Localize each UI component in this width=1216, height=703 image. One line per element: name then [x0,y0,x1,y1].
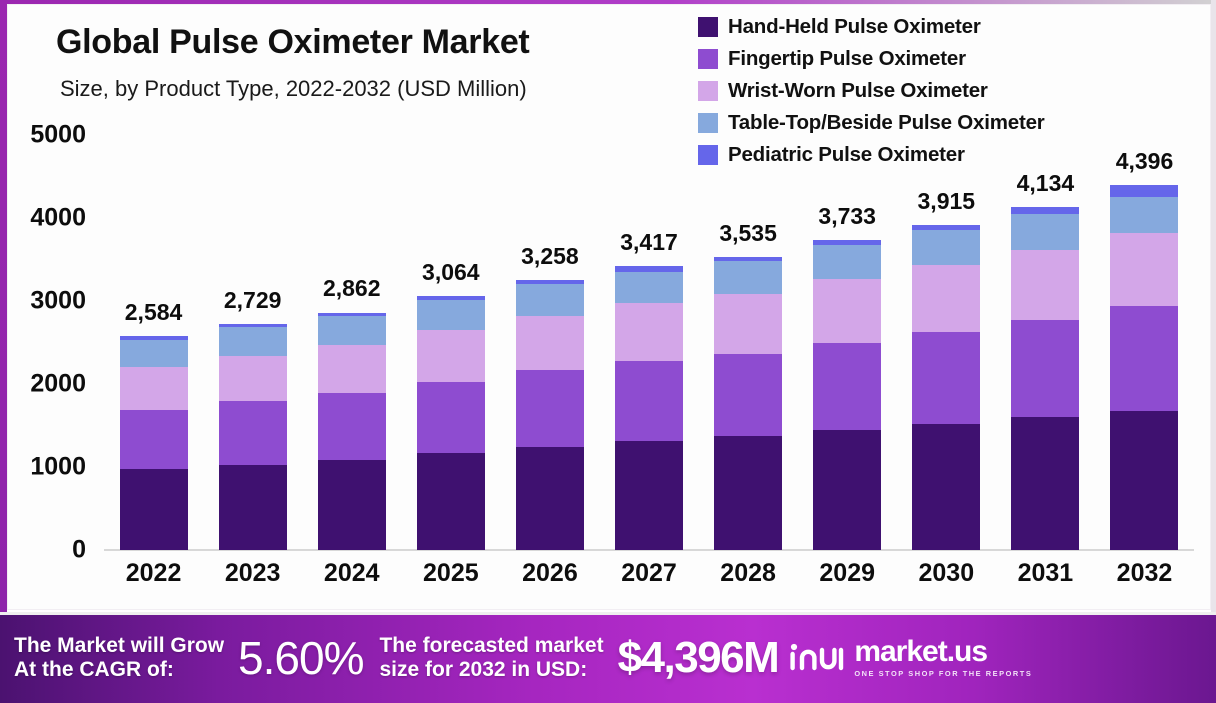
x-axis-tick-label: 2032 [1117,559,1173,588]
cagr-label-line2: At the CAGR of: [14,658,224,682]
bar-segment [318,345,386,393]
bar-segment [1110,306,1178,410]
bar-total-label: 3,535 [719,220,777,247]
bar-stack [615,266,683,550]
bar-segment [615,441,683,550]
bar-total-label: 3,417 [620,229,678,256]
bar-total-label: 2,862 [323,275,381,302]
y-axis-tick-label: 0 [0,536,86,565]
x-axis-tick-label: 2024 [324,559,380,588]
bar-segment [417,382,485,453]
bar-segment [912,265,980,332]
legend-swatch-icon [698,17,718,37]
bar-column-2024[interactable]: 2,8622024 [302,135,401,550]
legend-swatch-icon [698,49,718,69]
bar-segment [318,316,386,345]
cagr-label: The Market will Grow At the CAGR of: [14,634,224,681]
bar-stack [1011,207,1079,550]
y-axis-tick-label: 5000 [0,121,86,150]
bar-segment [219,465,287,550]
bar-segment [1110,411,1178,550]
bar-segment [813,279,881,342]
logo-text: market.us ONE STOP SHOP FOR THE REPORTS [854,637,1032,677]
bar-segment [1011,207,1079,214]
bottom-banner: The Market will Grow At the CAGR of: 5.6… [0,612,1216,703]
bar-stack [912,225,980,550]
bar-stack [516,280,584,550]
legend-item-label: Hand-Held Pulse Oximeter [728,15,981,39]
bar-stack [219,324,287,551]
bar-segment [516,370,584,447]
bar-column-2026[interactable]: 3,2582026 [500,135,599,550]
bar-segment [813,245,881,279]
bar-segment [1011,214,1079,250]
bar-segment [714,294,782,355]
cagr-value: 5.60% [238,631,363,685]
legend-item-0[interactable]: Hand-Held Pulse Oximeter [698,13,1045,41]
bar-segment [615,272,683,304]
bar-segment [219,356,287,401]
bar-total-label: 2,584 [125,299,183,326]
bar-stack [120,336,188,550]
legend-item-2[interactable]: Wrist-Worn Pulse Oximeter [698,77,1045,105]
infographic-root: Global Pulse Oximeter Market Size, by Pr… [0,0,1216,703]
legend-swatch-icon [698,81,718,101]
logo-wordmark: market.us [854,637,1032,667]
x-axis-tick-label: 2028 [720,559,776,588]
bar-segment [813,430,881,550]
x-axis-tick-label: 2030 [918,559,974,588]
x-axis-tick-label: 2027 [621,559,677,588]
bar-segment [120,469,188,550]
market-us-logo[interactable]: market.us ONE STOP SHOP FOR THE REPORTS [788,637,1032,677]
page-title: Global Pulse Oximeter Market [56,23,529,62]
legend-item-3[interactable]: Table-Top/Beside Pulse Oximeter [698,109,1045,137]
page-subtitle: Size, by Product Type, 2022-2032 (USD Mi… [60,76,527,102]
y-axis-tick-label: 1000 [0,453,86,482]
forecast-label-line2: size for 2032 in USD: [379,658,603,682]
x-axis-tick-label: 2023 [225,559,281,588]
forecast-label: The forecasted market size for 2032 in U… [379,634,603,681]
market-us-logomark-icon [788,638,846,677]
bar-stack [1110,185,1178,550]
bar-total-label: 2,729 [224,287,282,314]
bar-segment [1110,185,1178,197]
bar-column-2023[interactable]: 2,7292023 [203,135,302,550]
forecast-value: $4,396M [618,633,779,683]
bar-total-label: 3,733 [818,203,876,230]
bar-total-label: 4,396 [1116,148,1174,175]
bar-segment [120,340,188,368]
legend-swatch-icon [698,113,718,133]
bar-column-2027[interactable]: 3,4172027 [599,135,698,550]
bar-segment [1011,417,1079,550]
y-axis-tick-label: 3000 [0,287,86,316]
legend-item-label: Table-Top/Beside Pulse Oximeter [728,111,1045,135]
bar-segment [318,460,386,550]
bar-segment [714,436,782,550]
x-axis-tick-label: 2026 [522,559,578,588]
banner-separator [0,612,1216,615]
bar-segment [417,330,485,381]
legend-item-label: Wrist-Worn Pulse Oximeter [728,79,988,103]
frame-right-border [1211,0,1216,612]
y-axis-tick-label: 4000 [0,204,86,233]
bar-column-2025[interactable]: 3,0642025 [401,135,500,550]
bar-segment [318,393,386,460]
bar-column-2030[interactable]: 3,9152030 [897,135,996,550]
bar-stack [318,312,386,550]
x-axis-tick-label: 2025 [423,559,479,588]
bar-total-label: 3,258 [521,243,579,270]
bar-total-label: 3,915 [918,188,976,215]
x-axis-tick-label: 2029 [819,559,875,588]
x-axis-tick-label: 2022 [126,559,182,588]
bar-segment [1011,320,1079,418]
bar-column-2031[interactable]: 4,1342031 [996,135,1095,550]
logo-tagline: ONE STOP SHOP FOR THE REPORTS [854,670,1032,677]
bar-segment [516,284,584,316]
bar-column-2028[interactable]: 3,5352028 [699,135,798,550]
bar-stack [714,257,782,550]
bar-total-label: 4,134 [1017,170,1075,197]
bar-segment [813,343,881,431]
chart-card: Global Pulse Oximeter Market Size, by Pr… [7,4,1211,610]
plot-area: 010002000300040005000 2,58420222,7292023… [104,135,1194,550]
bar-segment [516,447,584,550]
bar-segment [219,327,287,355]
bar-segment [1110,197,1178,232]
bar-segment [120,410,188,469]
bar-segment [1110,233,1178,307]
bar-segment [714,354,782,436]
bar-segment [912,230,980,265]
bar-segment [714,261,782,293]
bar-segment [912,424,980,550]
bar-segment [615,361,683,441]
bar-segment [615,303,683,361]
bar-column-2029[interactable]: 3,7332029 [798,135,897,550]
bar-segment [516,316,584,370]
bar-series-group: 2,58420222,72920232,86220243,06420253,25… [104,135,1194,550]
bar-total-label: 3,064 [422,259,480,286]
bar-segment [120,367,188,410]
bar-segment [912,332,980,424]
legend-item-1[interactable]: Fingertip Pulse Oximeter [698,45,1045,73]
bar-segment [219,401,287,465]
legend-item-label: Fingertip Pulse Oximeter [728,47,966,71]
bar-column-2032[interactable]: 4,3962032 [1095,135,1194,550]
y-axis-tick-label: 2000 [0,370,86,399]
cagr-label-line1: The Market will Grow [14,634,224,658]
bar-column-2022[interactable]: 2,5842022 [104,135,203,550]
forecast-label-line1: The forecasted market [379,634,603,658]
bar-stack [813,240,881,550]
bar-segment [417,300,485,330]
bar-segment [417,453,485,550]
x-axis-tick-label: 2031 [1018,559,1074,588]
bar-stack [417,296,485,550]
bar-segment [1011,250,1079,320]
